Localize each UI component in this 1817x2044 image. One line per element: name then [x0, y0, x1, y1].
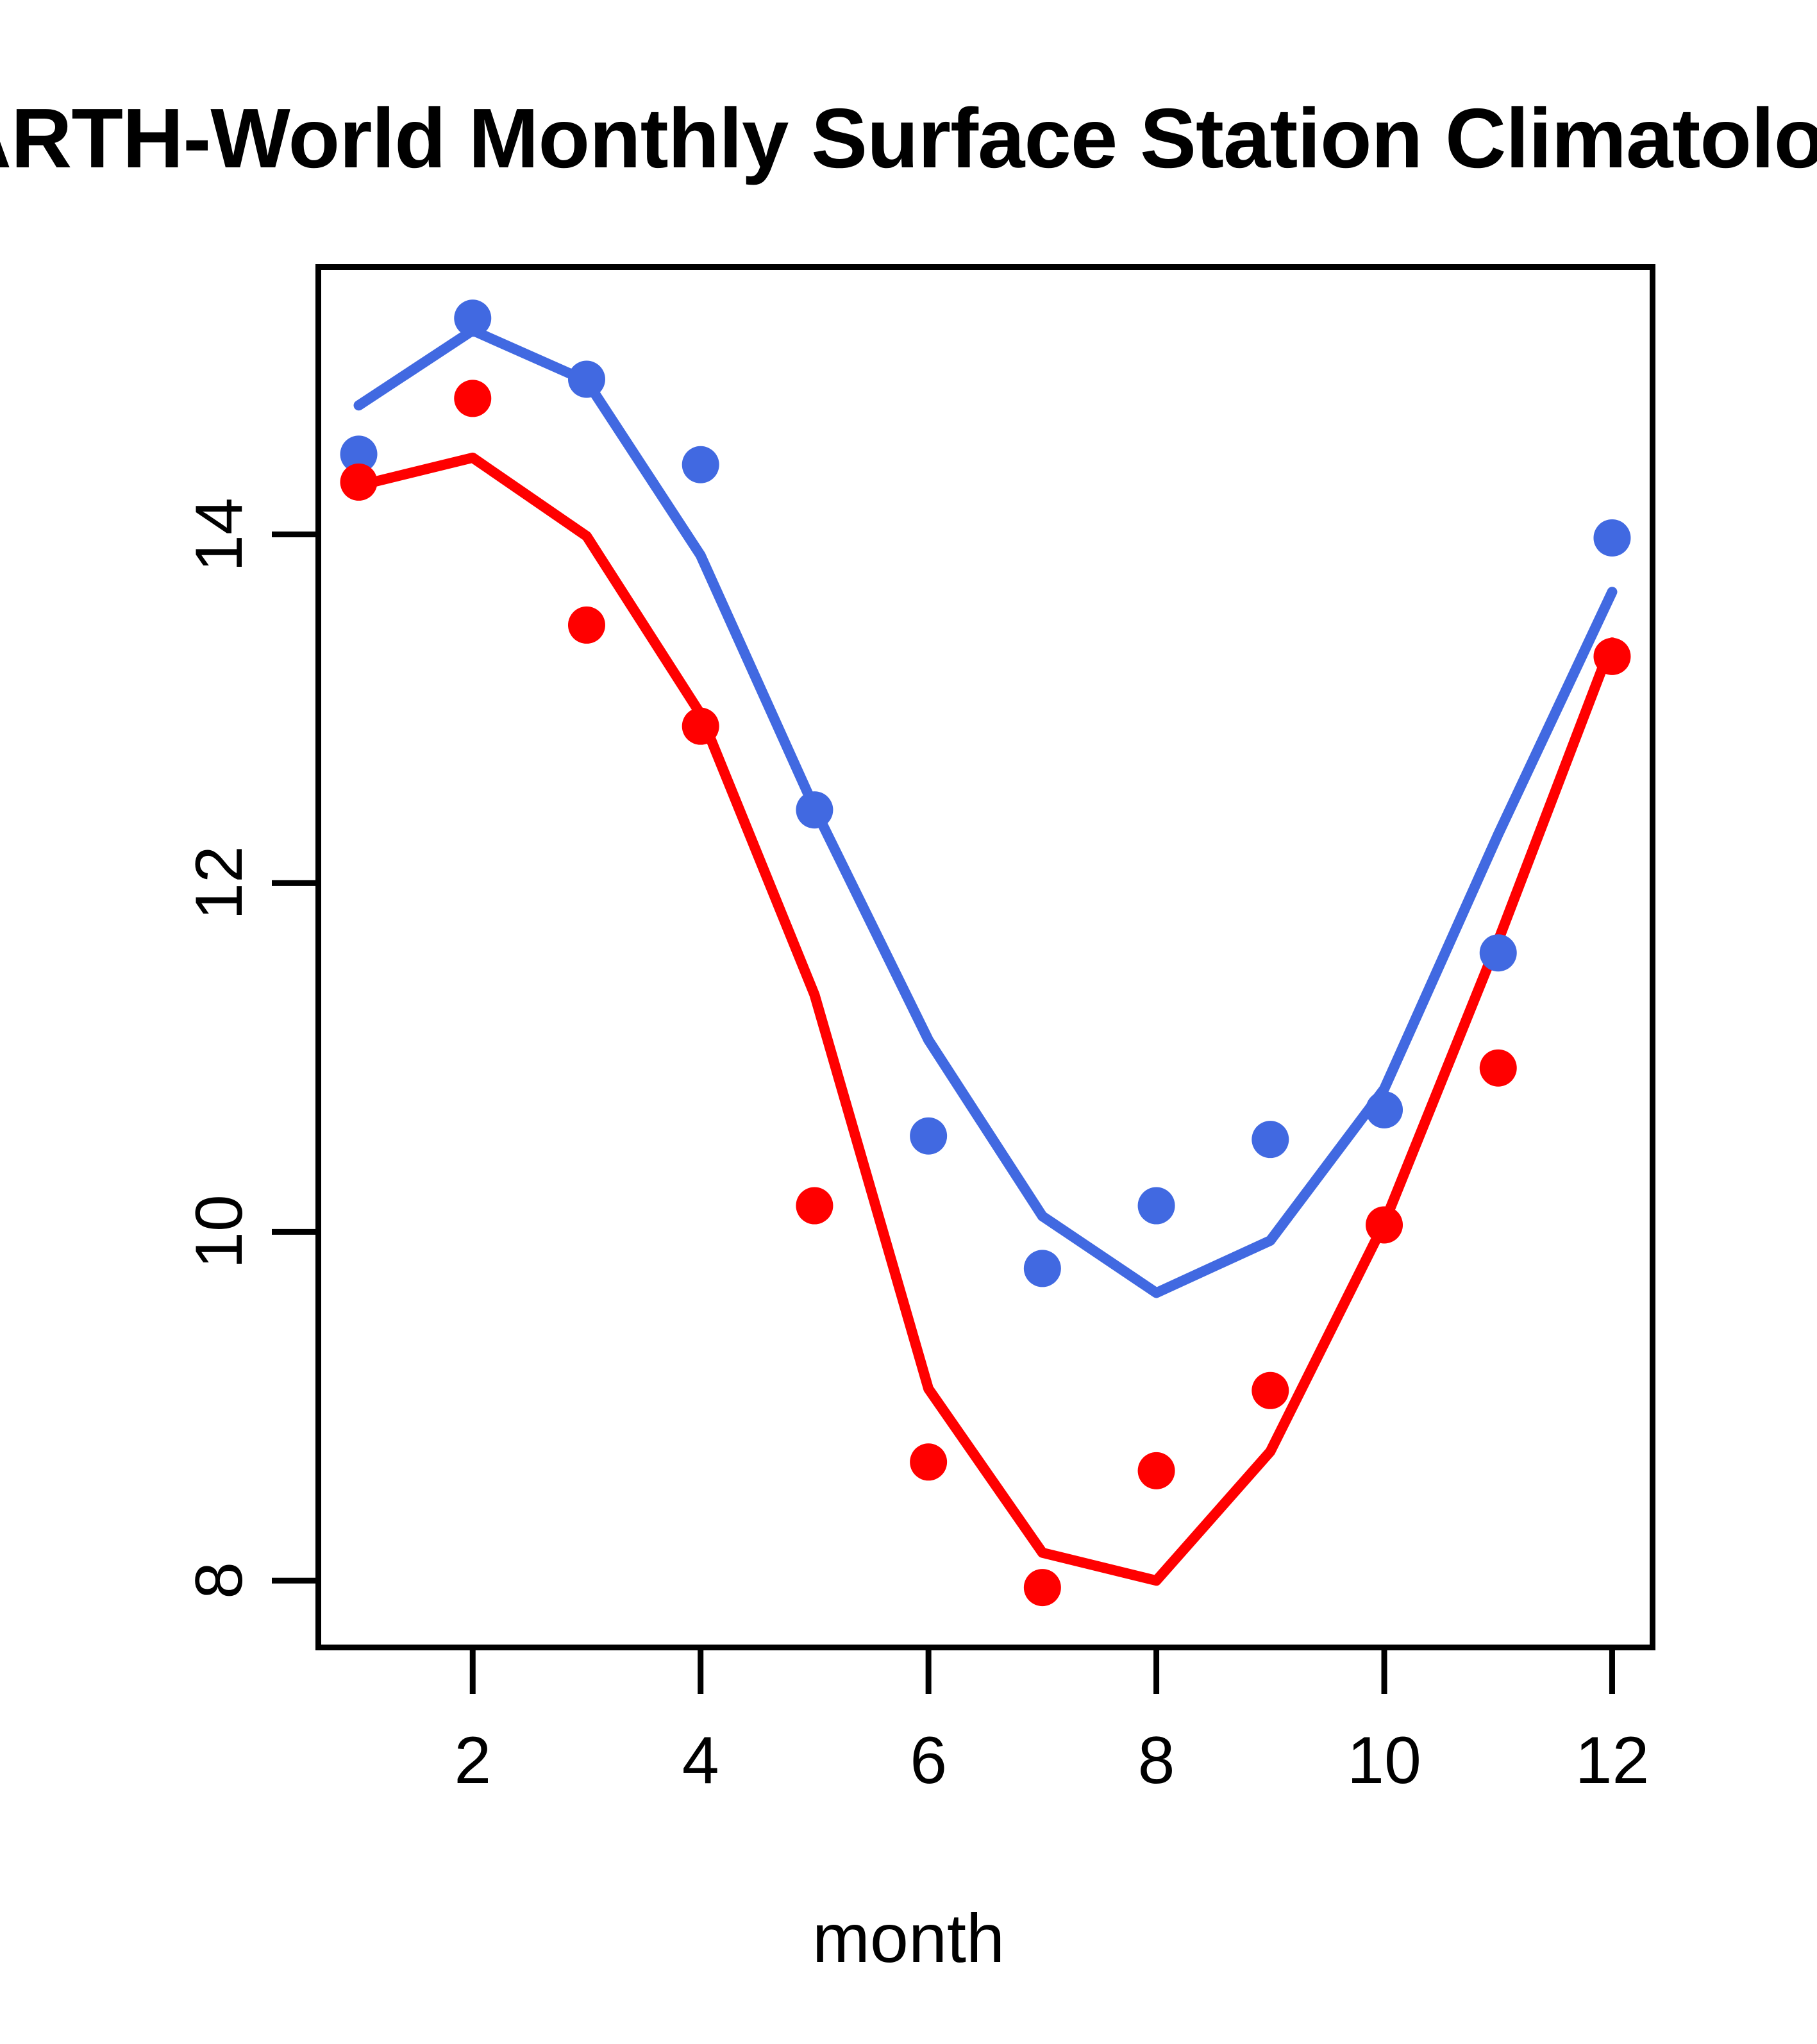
point-red-series-m12 [1593, 638, 1630, 675]
point-blue-series-m6 [910, 1118, 947, 1155]
line-blue-series [359, 330, 1612, 1293]
point-red-series-m2 [454, 380, 491, 417]
y-tick-label-8: 8 [184, 1529, 255, 1632]
point-red-series-m10 [1366, 1206, 1403, 1243]
point-red-series-m4 [682, 708, 719, 745]
point-red-series-m7 [1024, 1569, 1061, 1606]
point-blue-series-m8 [1138, 1187, 1175, 1225]
series-lines [359, 330, 1612, 1580]
line-red-series [359, 458, 1612, 1580]
x-axis-ticks [473, 1650, 1612, 1694]
x-tick-label-2: 2 [454, 1727, 491, 1794]
point-blue-series-m12 [1593, 519, 1630, 557]
point-red-series-m9 [1252, 1372, 1289, 1409]
x-tick-label-4: 4 [682, 1727, 719, 1794]
x-tick-label-12: 12 [1575, 1727, 1650, 1794]
point-red-series-m3 [568, 607, 605, 644]
point-blue-series-m4 [682, 446, 719, 483]
point-red-series-m1 [340, 464, 378, 501]
x-tick-label-8: 8 [1138, 1727, 1175, 1794]
chart-canvas: EARTH-World Monthly Surface Station Clim… [0, 0, 1817, 2044]
point-blue-series-m9 [1252, 1121, 1289, 1158]
point-blue-series-m3 [568, 360, 605, 398]
point-red-series-m6 [910, 1443, 947, 1480]
chart-graphics-layer [0, 0, 1817, 2044]
y-tick-label-10: 10 [184, 1180, 255, 1283]
x-tick-label-6: 6 [910, 1727, 947, 1794]
point-blue-series-m2 [454, 299, 491, 337]
y-tick-label-12: 12 [184, 832, 255, 934]
point-red-series-m5 [796, 1187, 833, 1225]
point-red-series-m11 [1480, 1050, 1517, 1087]
x-axis-title: month [812, 1898, 1005, 1978]
point-blue-series-m11 [1480, 934, 1517, 971]
point-blue-series-m10 [1366, 1091, 1403, 1128]
y-axis-ticks [272, 535, 315, 1581]
point-blue-series-m7 [1024, 1250, 1061, 1287]
point-red-series-m8 [1138, 1452, 1175, 1489]
y-tick-label-14: 14 [184, 483, 255, 586]
x-tick-label-10: 10 [1347, 1727, 1421, 1794]
point-blue-series-m5 [796, 791, 833, 828]
